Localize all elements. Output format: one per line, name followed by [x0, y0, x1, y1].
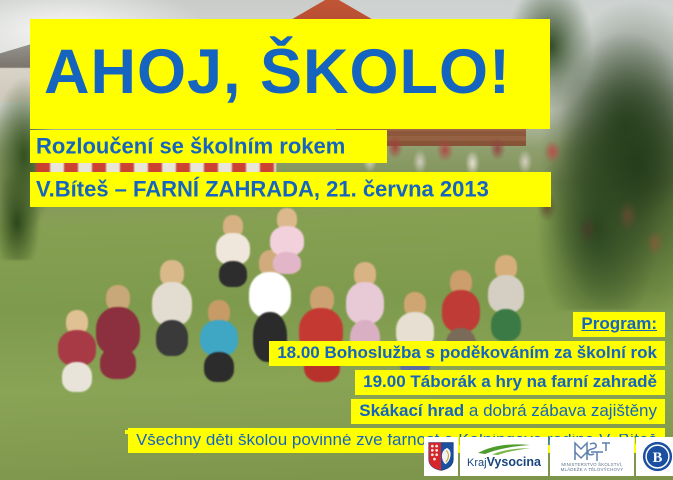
program-heading: Program:: [573, 312, 665, 337]
program-item-row: 19.00 Táborák a hry na farní zahradě: [0, 370, 673, 395]
vysocina-coat-of-arms-logo: [424, 437, 458, 476]
subtitle: Rozloučení se školním rokem: [36, 135, 345, 157]
program-heading-row: Program:: [0, 312, 673, 337]
green-swoosh-icon: [476, 444, 532, 455]
svg-text:B: B: [652, 450, 662, 466]
title-banner: AHOJ, ŠKOLO!: [30, 19, 550, 129]
kraj-vysocina-wordmark: KrajVysocina: [467, 456, 541, 469]
kolping-emblem-icon: B: [642, 441, 673, 472]
program-item-row: 18.00 Bohoslužba s poděkováním za školní…: [0, 341, 673, 366]
date-venue-text: V.Bíteš – FARNÍ ZAHRADA, 21. června 2013: [36, 178, 489, 200]
msmt-ministry-logo: MINISTERSTVO ŠKOLSTVÍ, MLÁDEŽE A TĚLOVÝC…: [550, 437, 634, 476]
kraj-word: Kraj: [467, 457, 487, 469]
event-poster: AHOJ, ŠKOLO! Rozloučení se školním rokem…: [0, 0, 673, 480]
program-attraction-row: Skákací hrad a dobrá zábava zajištěny: [0, 399, 673, 424]
program-attraction-bold: Skákací hrad: [359, 401, 464, 420]
msmt-caption-line-2: MLÁDEŽE A TĚLOVÝCHOVY: [561, 467, 624, 473]
sponsor-logo-strip: KrajVysocina MINISTERSTVO ŠKOLSTVÍ, MLÁD…: [424, 437, 673, 476]
kolping-family-logo: B: [636, 437, 673, 476]
program-attraction: Skákací hrad a dobrá zábava zajištěny: [351, 399, 665, 424]
page-title: AHOJ, ŠKOLO!: [44, 41, 511, 104]
child-figure: [214, 215, 254, 285]
date-venue-banner: V.Bíteš – FARNÍ ZAHRADA, 21. června 2013: [30, 172, 551, 207]
program-item-2: 19.00 Táborák a hry na farní zahradě: [355, 370, 665, 395]
vysocina-word: Vysocina: [487, 455, 541, 469]
subtitle-banner: Rozloučení se školním rokem: [30, 130, 387, 163]
banner-tail-rule: [125, 430, 665, 434]
program-item-1: 18.00 Bohoslužba s poděkováním za školní…: [269, 341, 665, 366]
child-figure: [268, 208, 308, 272]
msmt-monogram-icon: [572, 441, 612, 462]
coat-of-arms-icon: [428, 441, 454, 472]
program-attraction-rest: a dobrá zábava zajištěny: [464, 401, 657, 420]
kraj-vysocina-logo: KrajVysocina: [460, 437, 548, 476]
